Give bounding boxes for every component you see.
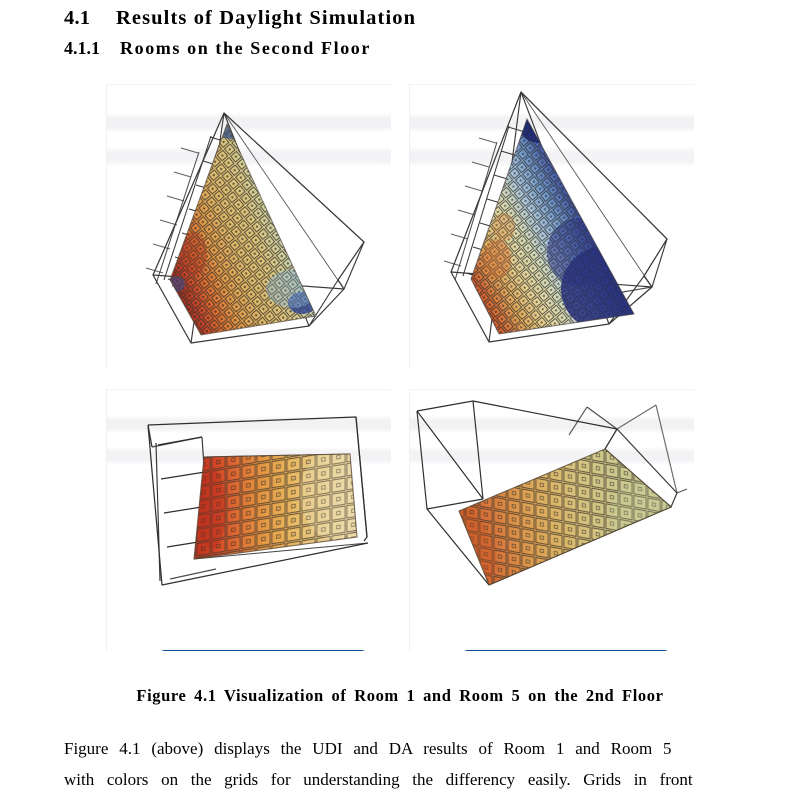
- figure-row-top: UDI of Room 1 on the 2nd floor: [0, 84, 800, 369]
- section-heading-number: 4.1: [64, 7, 116, 30]
- caption-plaque-da-room-5: DA of Room 5 on the 2nd floor: [464, 650, 668, 651]
- panel-udi-room-1: UDI of Room 1 on the 2nd floor: [106, 84, 391, 369]
- subsection-heading-number: 4.1.1: [64, 38, 120, 59]
- render-da-room-5: [409, 389, 694, 651]
- panel-udi-room-5: UDI of Room 5 on the 2nd floor: [106, 389, 391, 651]
- render-udi-room-5: [106, 389, 391, 651]
- section-heading-text: Results of Daylight Simulation: [116, 7, 416, 29]
- document-page: 4.1Results of Daylight Simulation 4.1.1R…: [0, 0, 800, 800]
- render-udi-room-1: [106, 84, 391, 369]
- render-da-room-1: [409, 84, 694, 369]
- panel-da-room-5: DA of Room 5 on the 2nd floor: [409, 389, 694, 651]
- body-paragraph: Figure 4.1 (above) displays the UDI and …: [64, 733, 758, 795]
- figure-row-bottom: UDI of Room 5 on the 2nd floor: [0, 389, 800, 651]
- body-line-2: with colors on the grids for understandi…: [64, 764, 758, 795]
- figure-4-1: UDI of Room 1 on the 2nd floor: [0, 84, 800, 669]
- caption-plaque-udi-room-5: UDI of Room 5 on the 2nd floor: [161, 650, 365, 651]
- subsection-heading: 4.1.1Rooms on the Second Floor: [64, 30, 756, 59]
- subsection-heading-text: Rooms on the Second Floor: [120, 38, 371, 58]
- panel-da-room-1: DA of Room 1 on the 2nd floor: [409, 84, 694, 369]
- body-line-1: Figure 4.1 (above) displays the UDI and …: [64, 733, 758, 764]
- section-heading: 4.1Results of Daylight Simulation: [64, 0, 756, 30]
- figure-caption: Figure 4.1 Visualization of Room 1 and R…: [0, 686, 800, 706]
